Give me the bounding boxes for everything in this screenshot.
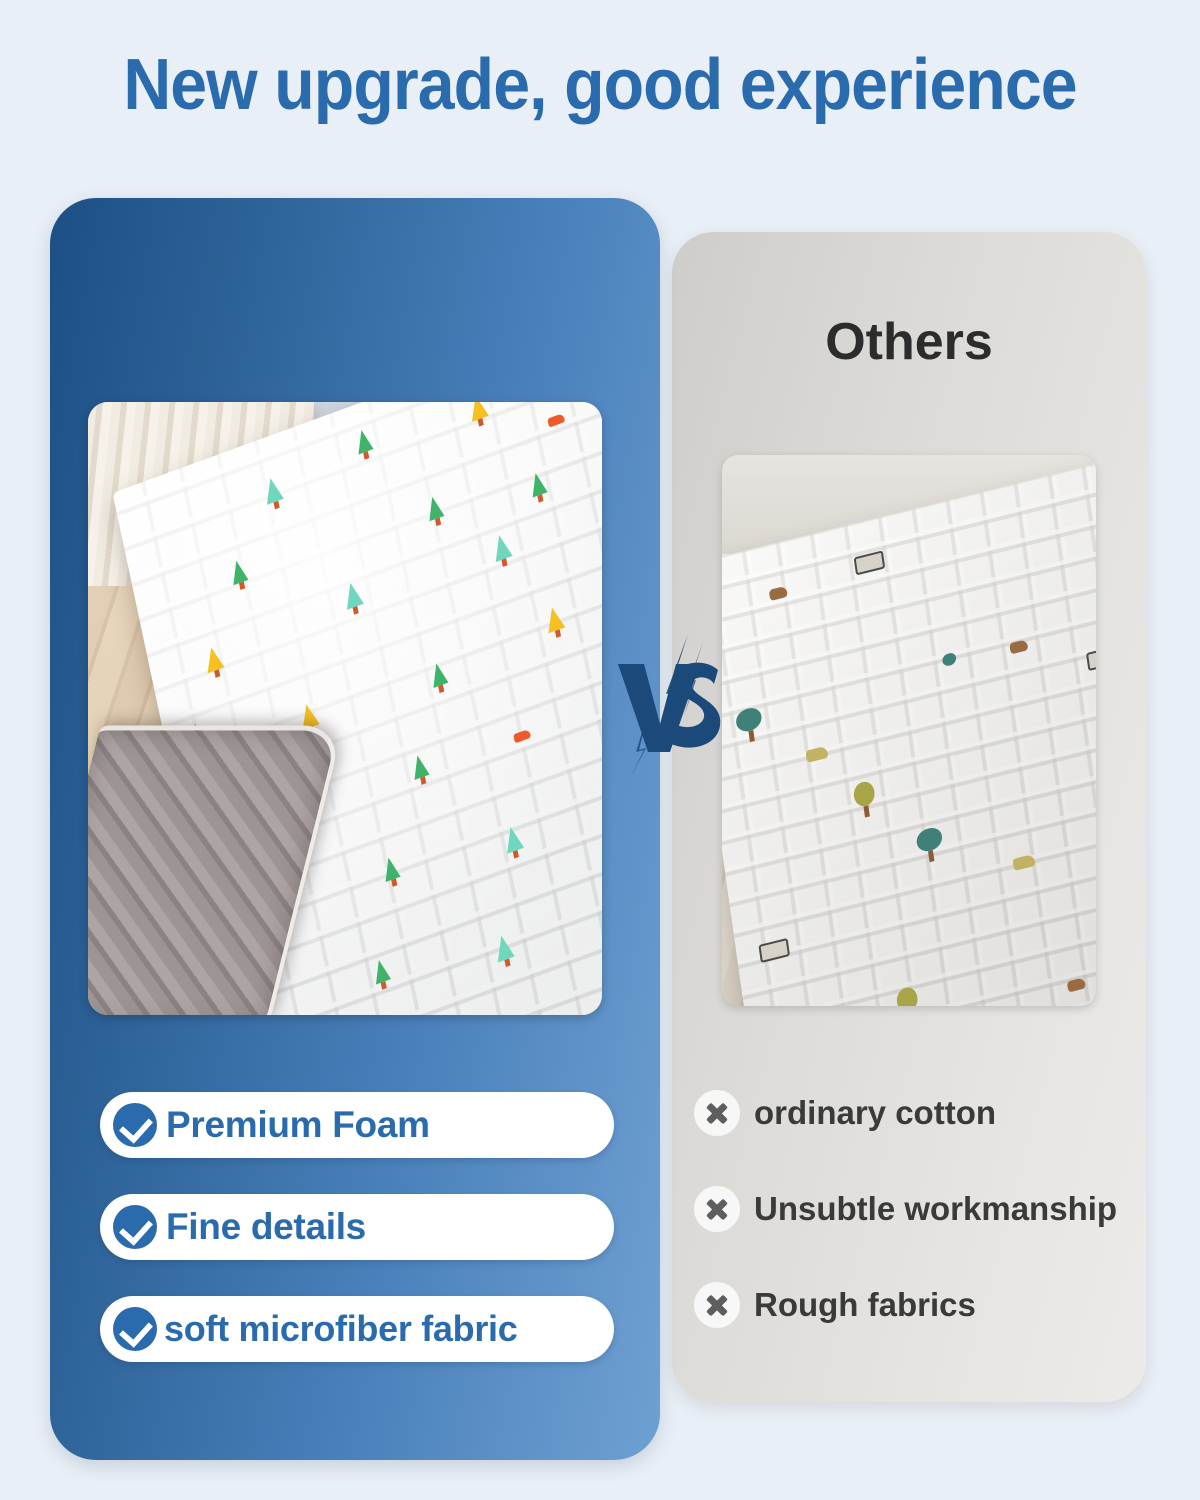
- others-heading: Others: [672, 312, 1146, 372]
- feature-label: Fine details: [166, 1206, 366, 1248]
- ours-panel: Ours: [50, 198, 660, 1460]
- feature-pill-soft-microfiber-fabric[interactable]: soft microfiber fabric: [100, 1296, 614, 1362]
- x-circle-icon: [694, 1282, 740, 1328]
- check-circle-icon: [113, 1307, 157, 1351]
- feature-pill-premium-foam[interactable]: Premium Foam: [100, 1092, 614, 1158]
- others-product-photo: [722, 455, 1096, 1006]
- feature-pill-fine-details[interactable]: Fine details: [100, 1194, 614, 1260]
- drawback-label: Unsubtle workmanship: [754, 1190, 1117, 1228]
- x-circle-icon: [694, 1090, 740, 1136]
- x-circle-icon: [694, 1186, 740, 1232]
- drawback-row-ordinary-cotton: ordinary cotton: [694, 1090, 996, 1136]
- ours-product-photo: [88, 402, 602, 1015]
- page-title: New upgrade, good experience: [48, 44, 1152, 126]
- drawback-row-rough-fabrics: Rough fabrics: [694, 1282, 976, 1328]
- drawback-label: Rough fabrics: [754, 1286, 976, 1324]
- feature-label: soft microfiber fabric: [164, 1308, 517, 1350]
- check-circle-icon: [113, 1103, 157, 1147]
- drawback-label: ordinary cotton: [754, 1094, 996, 1132]
- feature-label: Premium Foam: [166, 1104, 430, 1146]
- drawback-row-unsubtle-workmanship: Unsubtle workmanship: [694, 1186, 1117, 1232]
- vs-badge: VS: [610, 628, 740, 778]
- check-circle-icon: [113, 1205, 157, 1249]
